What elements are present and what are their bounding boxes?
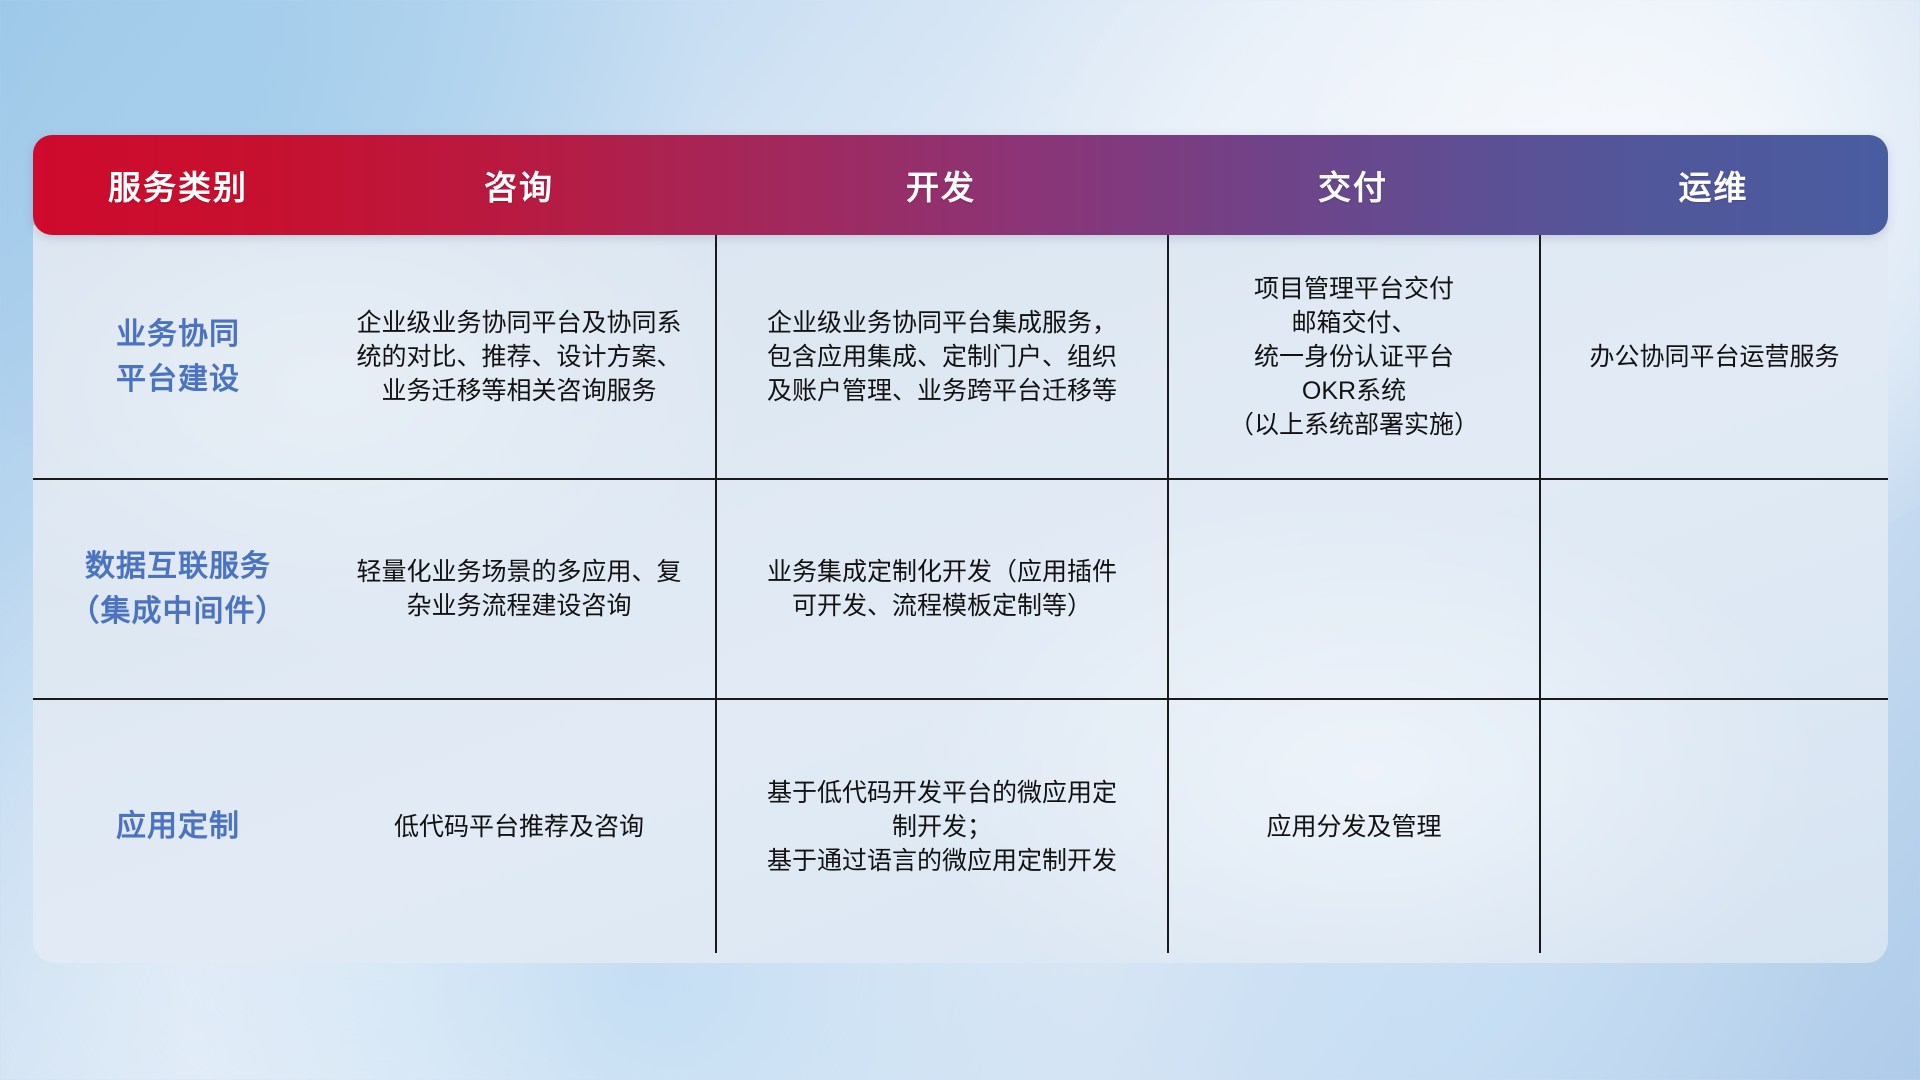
row-category-label: 业务协同 平台建设 xyxy=(33,235,323,478)
cell-delivery: 项目管理平台交付 邮箱交付、 统一身份认证平台 OKR系统 （以上系统部署实施） xyxy=(1167,235,1539,478)
column-header-operations: 运维 xyxy=(1539,135,1888,235)
cell-operations xyxy=(1539,480,1888,698)
column-header-consulting: 咨询 xyxy=(323,135,715,235)
cell-delivery xyxy=(1167,480,1539,698)
cell-development: 企业级业务协同平台集成服务， 包含应用集成、定制门户、组织 及账户管理、业务跨平… xyxy=(715,235,1167,478)
cell-delivery: 应用分发及管理 xyxy=(1167,700,1539,953)
column-header-delivery: 交付 xyxy=(1167,135,1539,235)
column-header-development: 开发 xyxy=(715,135,1167,235)
table-row: 业务协同 平台建设 企业级业务协同平台及协同系 统的对比、推荐、设计方案、 业务… xyxy=(33,235,1888,478)
table-header-row: 服务类别 咨询 开发 交付 运维 xyxy=(33,135,1888,235)
table-row: 数据互联服务 （集成中间件） 轻量化业务场景的多应用、复 杂业务流程建设咨询 业… xyxy=(33,478,1888,698)
cell-operations xyxy=(1539,700,1888,953)
cell-development: 业务集成定制化开发（应用插件 可开发、流程模板定制等） xyxy=(715,480,1167,698)
service-matrix-table: 服务类别 咨询 开发 交付 运维 业务协同 平台建设 企业级业务协同平台及协同系… xyxy=(33,135,1888,953)
cell-operations: 办公协同平台运营服务 xyxy=(1539,235,1888,478)
row-category-label: 数据互联服务 （集成中间件） xyxy=(33,480,323,698)
cell-consulting: 轻量化业务场景的多应用、复 杂业务流程建设咨询 xyxy=(323,480,715,698)
cell-consulting: 低代码平台推荐及咨询 xyxy=(323,700,715,953)
table-row: 应用定制 低代码平台推荐及咨询 基于低代码开发平台的微应用定 制开发； 基于通过… xyxy=(33,698,1888,953)
table-body: 业务协同 平台建设 企业级业务协同平台及协同系 统的对比、推荐、设计方案、 业务… xyxy=(33,225,1888,963)
cell-consulting: 企业级业务协同平台及协同系 统的对比、推荐、设计方案、 业务迁移等相关咨询服务 xyxy=(323,235,715,478)
row-category-label: 应用定制 xyxy=(33,700,323,953)
cell-development: 基于低代码开发平台的微应用定 制开发； 基于通过语言的微应用定制开发 xyxy=(715,700,1167,953)
column-header-category: 服务类别 xyxy=(33,135,323,235)
